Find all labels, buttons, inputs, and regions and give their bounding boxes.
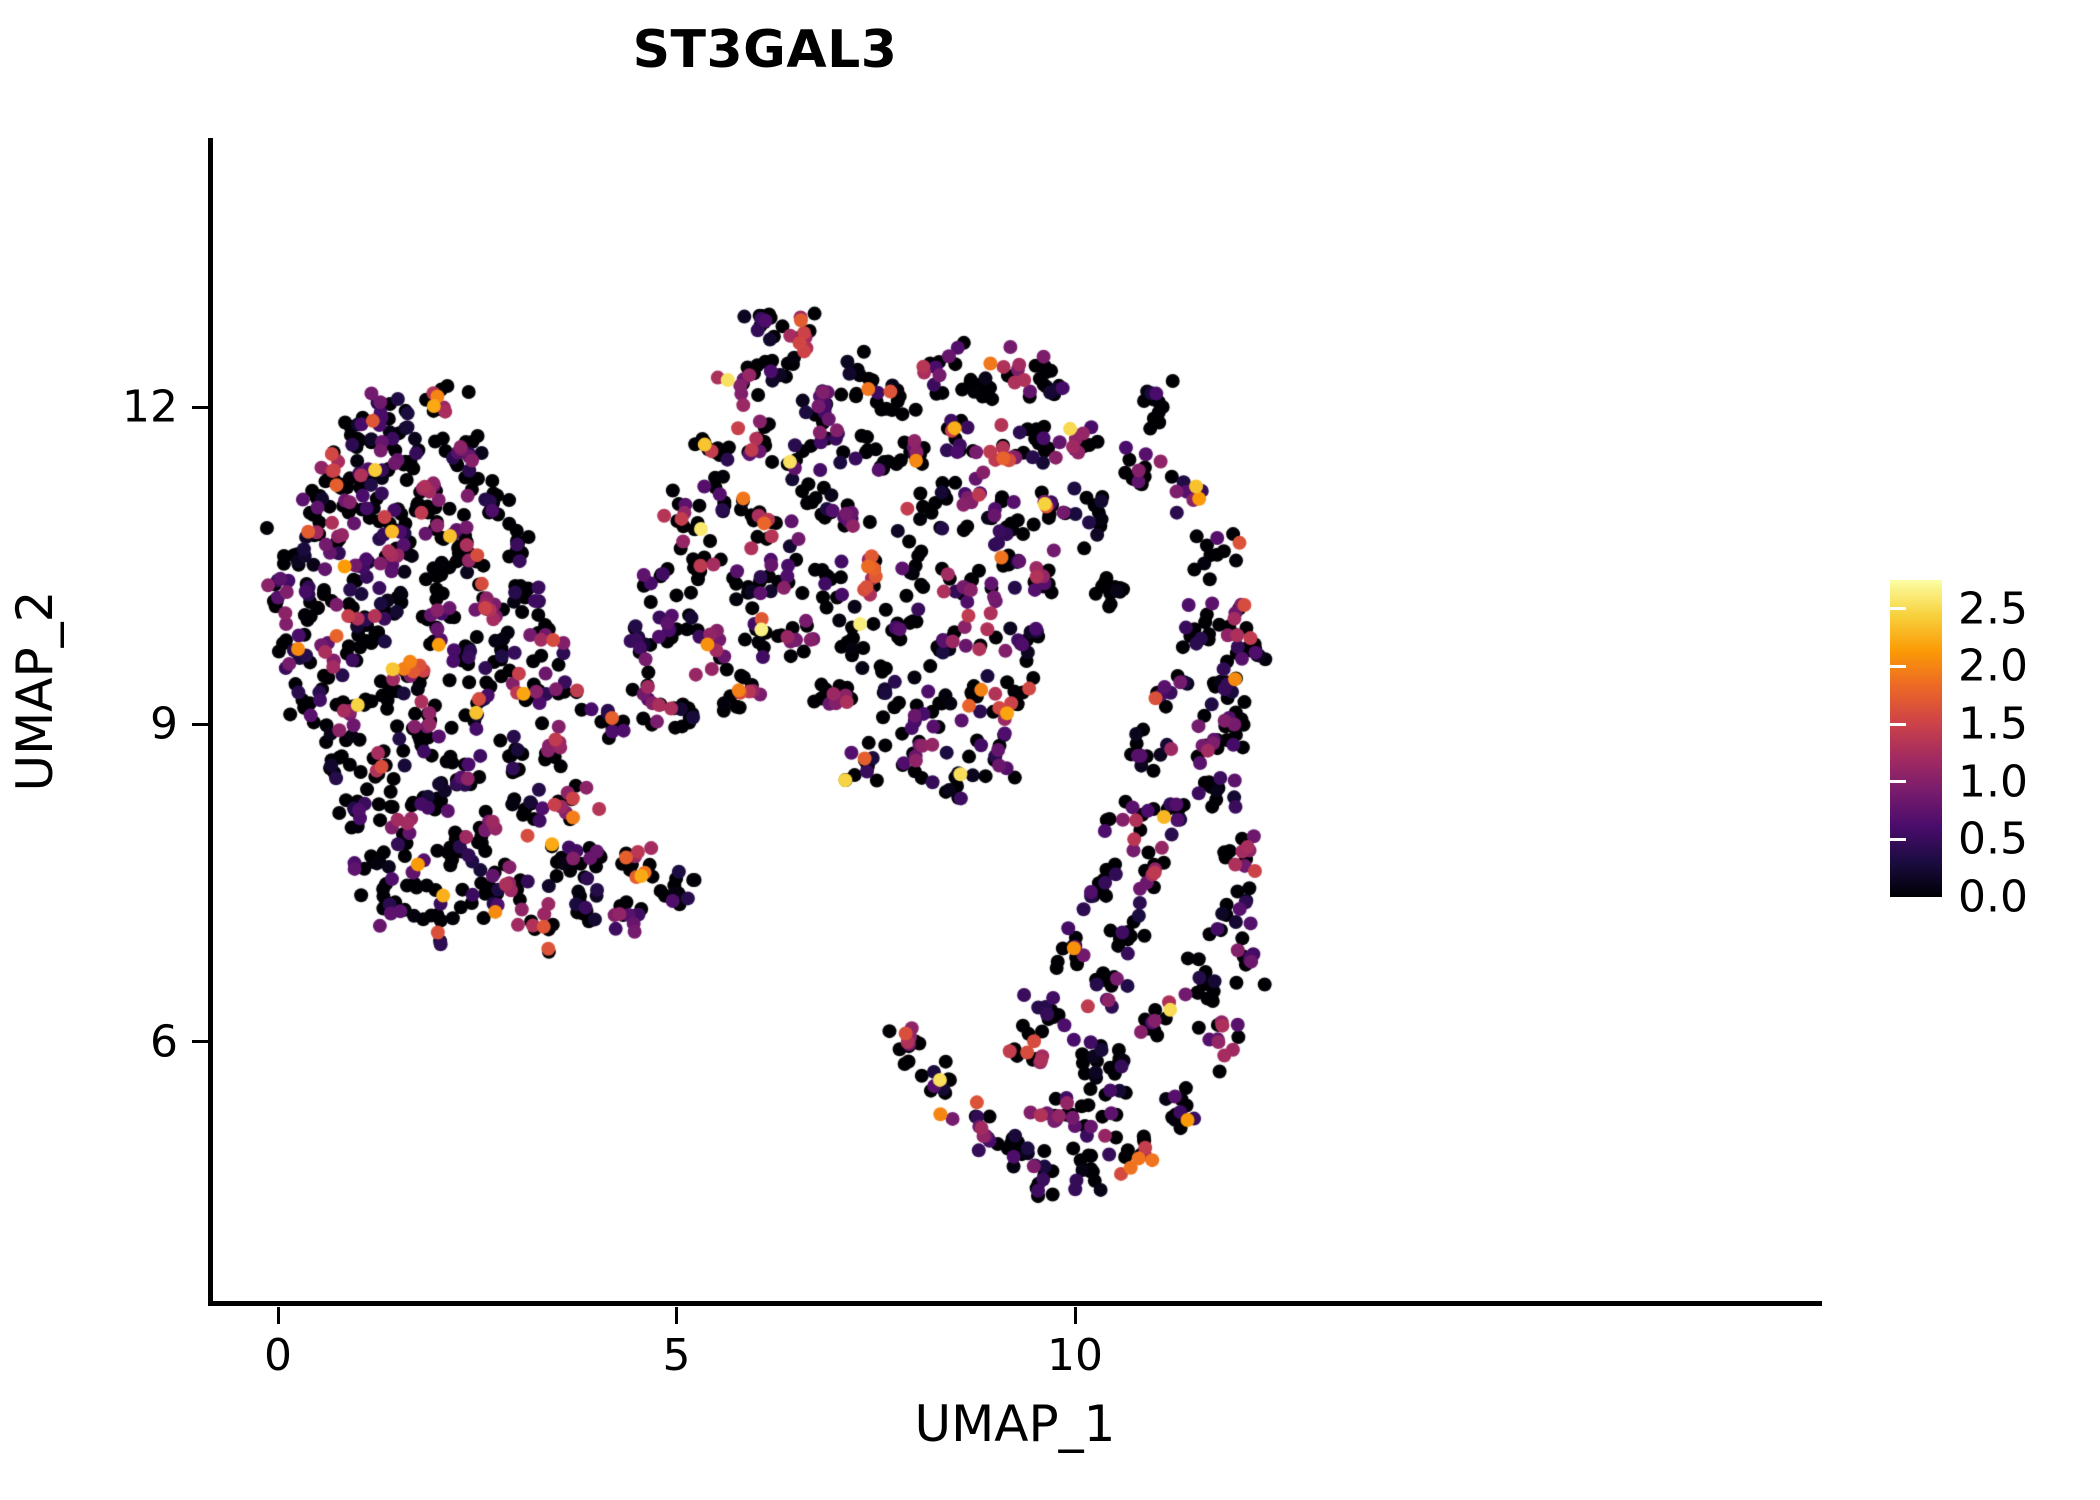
page-title: ST3GAL3	[208, 22, 1322, 79]
colorbar-tick-label: 0.0	[1958, 872, 2028, 923]
x-tick-mark	[675, 1307, 678, 1324]
colorbar-tick-label: 2.5	[1958, 583, 2028, 634]
y-tick-mark	[192, 723, 210, 726]
colorbar-tick-mark	[1890, 607, 1906, 610]
colorbar-tick-mark	[2084, 665, 2100, 668]
figure-canvas: ST3GAL3 UMAP_1 UMAP_2 0.00.51.01.52.02.5…	[0, 0, 2100, 1500]
y-tick-label: 6	[0, 1016, 178, 1067]
colorbar-tick-mark	[2084, 607, 2100, 610]
x-tick-label: 5	[663, 1330, 691, 1381]
colorbar-tick-label: 0.5	[1958, 814, 2028, 865]
colorbar-tick-mark	[1890, 838, 1906, 841]
colorbar-tick-label: 1.5	[1958, 699, 2028, 750]
colorbar-tick-label: 2.0	[1958, 641, 2028, 692]
colorbar-tick-mark	[2084, 723, 2100, 726]
y-tick-label: 9	[0, 699, 178, 750]
y-tick-label: 12	[0, 382, 178, 433]
x-tick-mark	[277, 1307, 280, 1324]
colorbar-tick-mark	[2084, 838, 2100, 841]
x-tick-mark	[1074, 1307, 1077, 1324]
colorbar-tick-mark	[2084, 780, 2100, 783]
y-tick-mark	[192, 1040, 210, 1043]
x-axis-label: UMAP_1	[208, 1395, 1822, 1453]
colorbar-tick-label: 1.0	[1958, 756, 2028, 807]
colorbar-tick-mark	[1890, 723, 1906, 726]
x-tick-label: 10	[1047, 1330, 1103, 1381]
colorbar-legend: 0.00.51.01.52.02.5	[1890, 580, 2100, 900]
scatter-plot-canvas	[208, 138, 1822, 1306]
colorbar-tick-mark	[1890, 665, 1906, 668]
x-tick-label: 0	[264, 1330, 292, 1381]
plot-axes-area	[208, 138, 1822, 1306]
y-axis-label: UMAP_2	[6, 391, 64, 991]
colorbar-tick-mark	[1890, 780, 1906, 783]
colorbar-gradient-bar	[1890, 580, 1942, 897]
y-tick-mark	[192, 406, 210, 409]
